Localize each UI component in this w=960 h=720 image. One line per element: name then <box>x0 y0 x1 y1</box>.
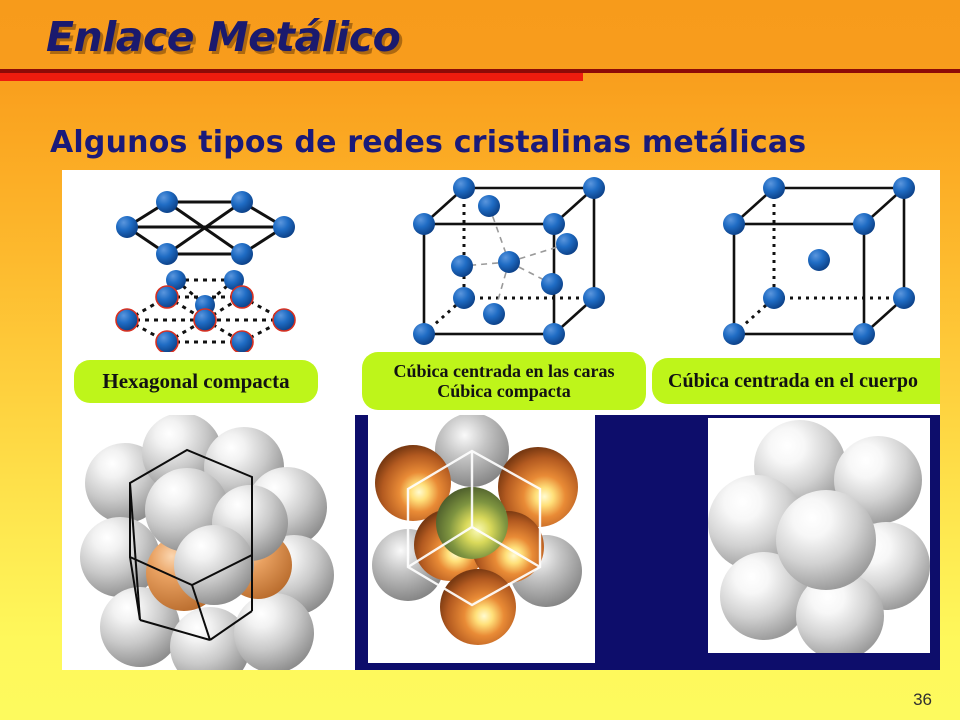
label-hexagonal-compacta-text: Hexagonal compacta <box>102 370 289 394</box>
label-cubica-caras-line1: Cúbica centrada en las caras <box>394 361 615 381</box>
photo-fcc-inner <box>368 415 595 663</box>
divider-rule-accent <box>0 73 583 81</box>
label-hexagonal-compacta: Hexagonal compacta <box>74 360 318 403</box>
hcp-lattice-svg <box>72 172 362 352</box>
slide: Enlace Metálico Algunos tipos de redes c… <box>0 0 960 720</box>
label-cubica-cuerpo: Cúbica centrada en el cuerpo <box>652 358 940 404</box>
diagram-hexagonal-close-packed <box>72 172 362 352</box>
hcp-spheres-svg <box>62 415 352 670</box>
fcc-spheres-svg <box>368 415 595 663</box>
bcc-spheres-svg <box>708 418 930 653</box>
photo-body-centered-cubic-spheres <box>610 415 940 670</box>
page-number: 36 <box>913 690 932 710</box>
photo-face-centered-cubic-spheres <box>355 415 610 670</box>
label-cubica-caras-line2: Cúbica compacta <box>394 381 615 401</box>
photo-hexagonal-close-packed-spheres <box>62 415 352 670</box>
diagram-face-centered-cubic <box>402 172 632 352</box>
diagram-body-centered-cubic <box>712 172 940 352</box>
page-title: Enlace Metálico <box>46 13 400 61</box>
content-panel: Hexagonal compacta Cúbica centrada en la… <box>62 170 940 670</box>
slide-subtitle: Algunos tipos de redes cristalinas metál… <box>50 125 806 160</box>
label-cubica-caras: Cúbica centrada en las caras Cúbica comp… <box>362 352 646 410</box>
photo-bcc-inner <box>708 418 930 653</box>
label-cubica-cuerpo-text: Cúbica centrada en el cuerpo <box>668 370 918 392</box>
fcc-lattice-svg <box>402 172 632 352</box>
bcc-lattice-svg <box>712 172 940 352</box>
